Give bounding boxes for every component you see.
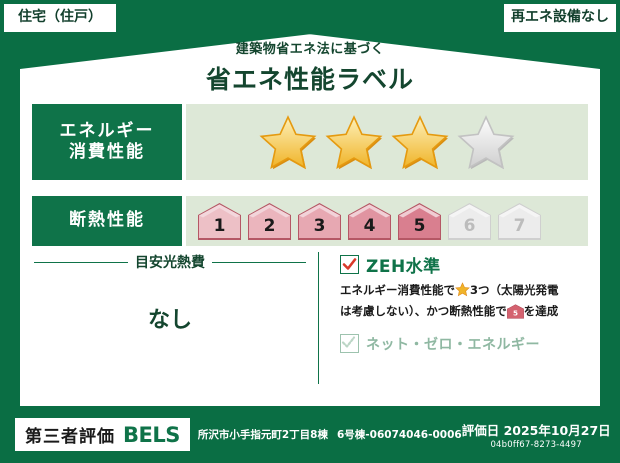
evaluation-block: 評価日 2025年10月27日 04b0ff67-8273-4497: [462, 420, 611, 450]
net-zero-energy-row: ネット・ゼロ・エネルギー: [340, 334, 592, 354]
net-zero-energy-checkbox[interactable]: [340, 334, 359, 353]
zeh-desc-part1: エネルギー消費性能で: [340, 283, 455, 297]
energy-performance-value: [186, 104, 588, 180]
insulation-level-empty: 7: [496, 201, 543, 241]
star-filled-icon: [391, 114, 449, 170]
address-text: 所沢市小手指元町2丁目8棟: [198, 429, 328, 441]
insulation-level-filled: 1: [196, 201, 243, 241]
renewable-equipment-tag: 再エネ設備なし: [504, 4, 616, 32]
insulation-level-filled: 2: [246, 201, 293, 241]
energy-performance-row: エネルギー 消費性能: [32, 104, 588, 180]
utility-cost-heading: 目安光熱費: [34, 252, 306, 272]
zeh-desc-part2: 3つ（太陽光発電: [470, 283, 559, 297]
insulation-level-filled: 3: [296, 201, 343, 241]
insulation-level-filled: 5: [396, 201, 443, 241]
bels-chip: 第三者評価 BELS: [15, 418, 190, 451]
address-block: 所沢市小手指元町2丁目8棟6号棟-06074046-0006: [198, 427, 462, 442]
insulation-level-number: 4: [364, 216, 376, 241]
evaluation-date-line: 評価日 2025年10月27日: [462, 420, 611, 439]
insulation-performance-value: 1234567: [186, 196, 588, 246]
utility-cost-block: 目安光熱費 なし: [34, 252, 306, 334]
energy-label-line2: 消費性能: [69, 142, 145, 163]
star-rating: [259, 114, 515, 170]
lot-number: 6号棟-06074046-0006: [337, 429, 462, 441]
insulation-level-filled: 4: [346, 201, 393, 241]
evaluation-date-label: 評価日: [462, 423, 500, 438]
title-block: 建築物省エネ法に基づく 省エネ性能ラベル: [0, 38, 620, 96]
utility-cost-heading-text: 目安光熱費: [135, 252, 205, 272]
footer: 第三者評価 BELS 所沢市小手指元町2丁目8棟6号棟-06074046-000…: [0, 406, 620, 463]
zeh-checkbox[interactable]: [340, 255, 359, 274]
zeh-heading: ZEH水準: [340, 252, 592, 277]
star-filled-icon: [325, 114, 383, 170]
rule-right: [212, 262, 306, 263]
net-zero-energy-label: ネット・ゼロ・エネルギー: [366, 334, 540, 354]
zeh-block: ZEH水準 エネルギー消費性能で3つ（太陽光発電 は考慮しない）、かつ断熱性能で…: [340, 252, 592, 354]
vertical-divider: [318, 252, 319, 384]
page-title: 省エネ性能ラベル: [0, 60, 620, 96]
star-filled-icon: [259, 114, 317, 170]
evaluation-date-value: 2025年10月27日: [504, 423, 611, 438]
evaluation-id: 04b0ff67-8273-4497: [462, 440, 611, 450]
insulation-level-number: 6: [464, 216, 476, 241]
check-icon: [342, 257, 357, 272]
bels-logo: BELS: [123, 423, 180, 447]
insulation-performance-label: 断熱性能: [32, 196, 182, 246]
insulation-level-number: 5: [414, 216, 426, 241]
insulation-performance-row: 断熱性能 1234567: [32, 196, 588, 246]
zeh-description: エネルギー消費性能で3つ（太陽光発電 は考慮しない）、かつ断熱性能で5を達成: [340, 282, 592, 325]
insulation-level-number: 1: [214, 216, 226, 241]
utility-cost-value: なし: [34, 302, 306, 334]
energy-label-line1: エネルギー: [60, 121, 155, 142]
insulation-level-empty: 6: [446, 201, 493, 241]
insulation-level-number: 7: [514, 216, 526, 241]
zeh-desc-part3: は考慮しない）、かつ断熱性能で: [340, 304, 507, 318]
energy-performance-label: エネルギー 消費性能: [32, 104, 182, 180]
svg-text:5: 5: [513, 308, 518, 317]
third-party-label: 第三者評価: [25, 422, 115, 447]
insulation-level-number: 3: [314, 216, 326, 241]
title-subtitle: 建築物省エネ法に基づく: [0, 38, 620, 57]
zeh-desc-part4: を達成: [524, 304, 559, 318]
energy-performance-label: 住宅（住戸） 再エネ設備なし 建築物省エネ法に基づく 省エネ性能ラベル エネルギ…: [0, 0, 620, 463]
inline-star-icon: [455, 282, 470, 303]
check-icon-disabled: [341, 335, 356, 350]
rule-left: [34, 262, 128, 263]
zeh-title: ZEH水準: [366, 252, 441, 277]
inline-house-icon: 5: [507, 304, 524, 325]
building-type-tag: 住宅（住戸）: [4, 4, 116, 32]
insulation-level-number: 2: [264, 216, 276, 241]
star-empty-icon: [457, 114, 515, 170]
insulation-level-scale: 1234567: [196, 201, 543, 241]
